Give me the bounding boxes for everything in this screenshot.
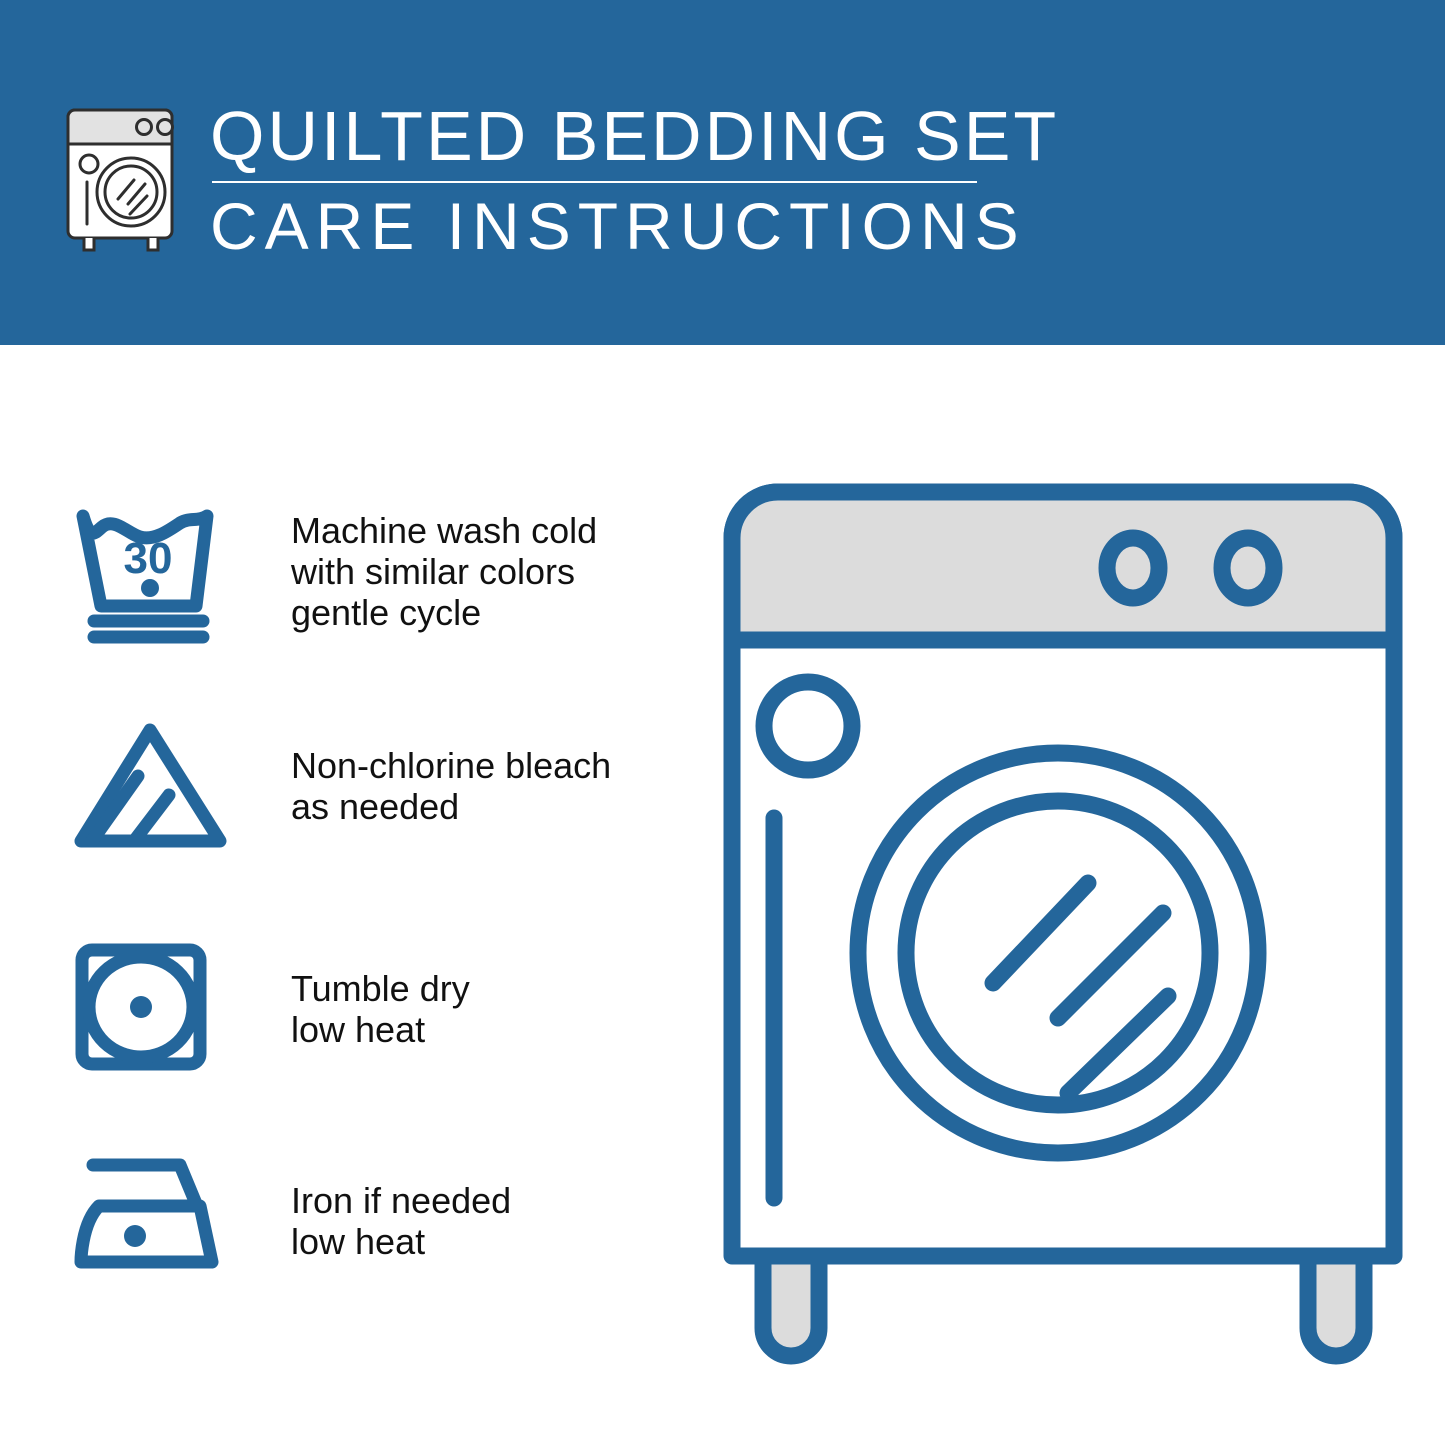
care-text-bleach: Non-chlorine bleach as needed [291,745,611,827]
iron-icon [72,1150,237,1280]
care-text-tumble-dry: Tumble dry low heat [291,968,470,1050]
care-text-iron: Iron if needed low heat [291,1180,511,1262]
care-text-machine-wash: Machine wash cold with similar colors ge… [291,510,597,633]
header-text-block: QUILTED BEDDING SET CARE INSTRUCTIONS [210,96,1220,265]
tumble-dry-icon [72,940,212,1080]
page-title: QUILTED BEDDING SET [210,96,1220,176]
machine-indicator-circle [764,682,852,770]
header-banner: QUILTED BEDDING SET CARE INSTRUCTIONS [0,0,1445,345]
care-instructions-list: 30 Machine wash cold with similar colors… [0,345,700,1445]
page-subtitle: CARE INSTRUCTIONS [210,187,1220,265]
machine-control-panel [732,492,1394,640]
washing-machine-illustration [718,478,1408,1378]
machine-knob-2 [1222,538,1274,598]
care-instructions-page: QUILTED BEDDING SET CARE INSTRUCTIONS [0,0,1445,1445]
washing-machine-icon [62,104,184,256]
title-divider [212,181,977,183]
wash-temperature-label: 30 [124,534,173,583]
machine-knob-1 [1107,538,1159,598]
bleach-triangle-icon [72,720,232,860]
wash-tub-30-icon: 30 [72,500,232,650]
